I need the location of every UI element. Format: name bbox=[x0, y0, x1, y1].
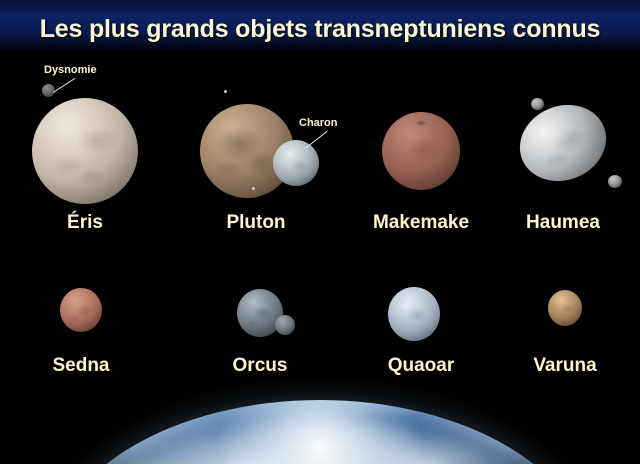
object-varuna bbox=[548, 290, 582, 326]
object-label-haumea: Haumea bbox=[503, 212, 623, 234]
dysnomie-callout-label: Dysnomie bbox=[44, 64, 97, 76]
vanth-moon bbox=[275, 315, 295, 335]
object-label-pluton: Pluton bbox=[196, 212, 316, 234]
object-label-quaoar: Quaoar bbox=[361, 355, 481, 377]
object-quaoar bbox=[388, 287, 440, 341]
hydra-moon bbox=[252, 187, 255, 190]
nix-moon bbox=[224, 90, 227, 93]
object-sedna bbox=[60, 288, 102, 332]
object-label-orcus: Orcus bbox=[200, 355, 320, 377]
namaka-moon bbox=[608, 175, 622, 188]
hiiaka-moon bbox=[531, 98, 544, 110]
object-label-sedna: Sedna bbox=[21, 355, 141, 377]
object-makemake bbox=[382, 112, 460, 190]
object-eris bbox=[32, 98, 138, 204]
charon-callout-label: Charon bbox=[299, 117, 338, 129]
object-label-makemake: Makemake bbox=[361, 212, 481, 234]
object-label-varuna: Varuna bbox=[505, 355, 625, 377]
poster-canvas: Les plus grands objets transneptuniens c… bbox=[0, 0, 640, 464]
object-label-eris: Éris bbox=[25, 212, 145, 234]
charon-moon bbox=[273, 140, 319, 186]
